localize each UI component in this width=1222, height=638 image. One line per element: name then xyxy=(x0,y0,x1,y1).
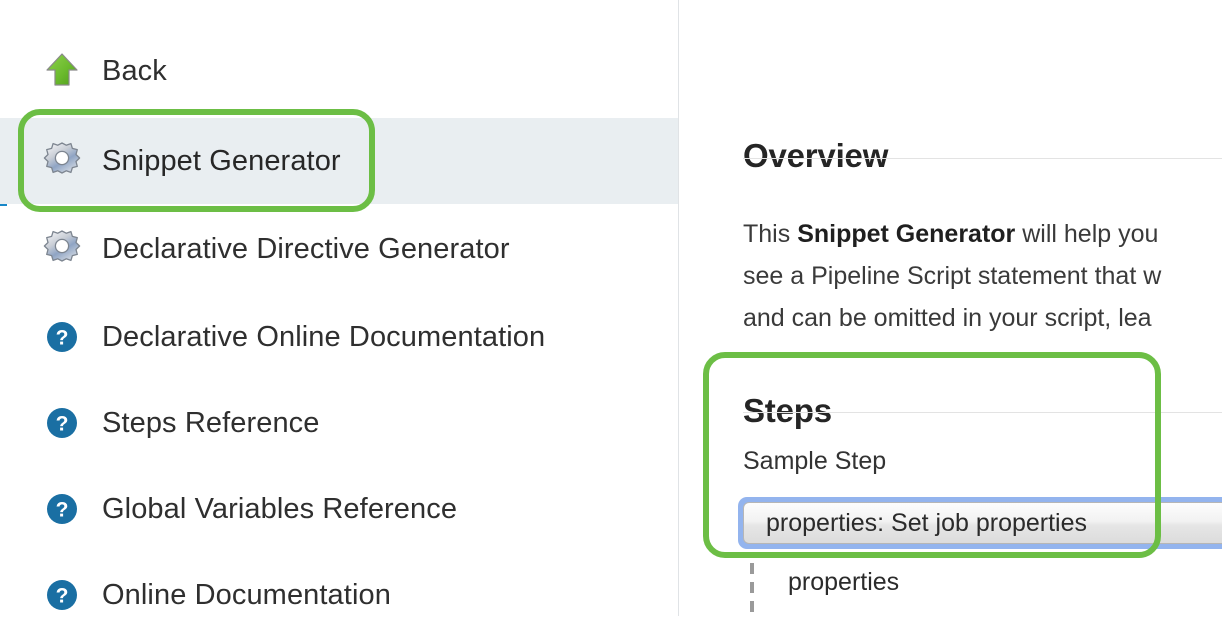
sidebar-item-label: Online Documentation xyxy=(102,581,391,610)
sidebar-item-global-variables-reference[interactable]: ? Global Variables Reference xyxy=(0,466,678,552)
sample-step-select[interactable]: properties: Set job properties xyxy=(743,502,1222,544)
overview-heading: Overview xyxy=(743,137,888,175)
overview-text-part1: This xyxy=(743,220,797,248)
sidebar-item-label: Declarative Directive Generator xyxy=(102,235,510,264)
sidebar-item-steps-reference[interactable]: ? Steps Reference xyxy=(0,380,678,466)
gear-icon xyxy=(40,139,84,183)
up-arrow-icon xyxy=(40,49,84,93)
overview-divider xyxy=(743,158,1222,159)
sidebar-item-label: Global Variables Reference xyxy=(102,495,457,524)
svg-text:?: ? xyxy=(56,327,69,350)
sidebar-item-declarative-online-documentation[interactable]: ? Declarative Online Documentation xyxy=(0,294,678,380)
gear-icon xyxy=(40,227,84,271)
steps-divider xyxy=(743,412,1222,413)
overview-paragraph: This Snippet Generator will help you see… xyxy=(743,213,1222,339)
sidebar: Back Snippet Gen xyxy=(0,0,679,616)
sidebar-item-label: Steps Reference xyxy=(102,409,320,438)
pipeline-syntax-page: Back Snippet Gen xyxy=(0,0,1222,616)
help-icon: ? xyxy=(40,315,84,359)
sidebar-item-online-documentation[interactable]: ? Online Documentation xyxy=(0,552,678,638)
sample-step-select-value: properties: Set job properties xyxy=(766,509,1087,538)
sample-step-select-wrapper[interactable]: properties: Set job properties xyxy=(738,497,1222,549)
help-icon: ? xyxy=(40,487,84,531)
svg-text:?: ? xyxy=(56,499,69,522)
sidebar-item-label: Back xyxy=(102,57,167,86)
sidebar-item-declarative-directive-generator[interactable]: Declarative Directive Generator xyxy=(0,206,678,292)
tree-guide-line xyxy=(750,563,754,616)
sidebar-item-snippet-generator[interactable]: Snippet Generator xyxy=(0,118,678,204)
overview-text-bold: Snippet Generator xyxy=(797,220,1015,248)
sidebar-item-back[interactable]: Back xyxy=(0,28,678,114)
svg-text:?: ? xyxy=(56,413,69,436)
help-icon: ? xyxy=(40,573,84,617)
sidebar-item-label: Declarative Online Documentation xyxy=(102,323,545,352)
help-icon: ? xyxy=(40,401,84,445)
sidebar-item-label: Snippet Generator xyxy=(102,147,341,176)
sample-step-label: Sample Step xyxy=(743,447,886,476)
svg-text:?: ? xyxy=(56,585,69,608)
tree-item-properties[interactable]: properties xyxy=(788,568,899,597)
main-content: Overview This Snippet Generator will hel… xyxy=(680,0,1222,616)
